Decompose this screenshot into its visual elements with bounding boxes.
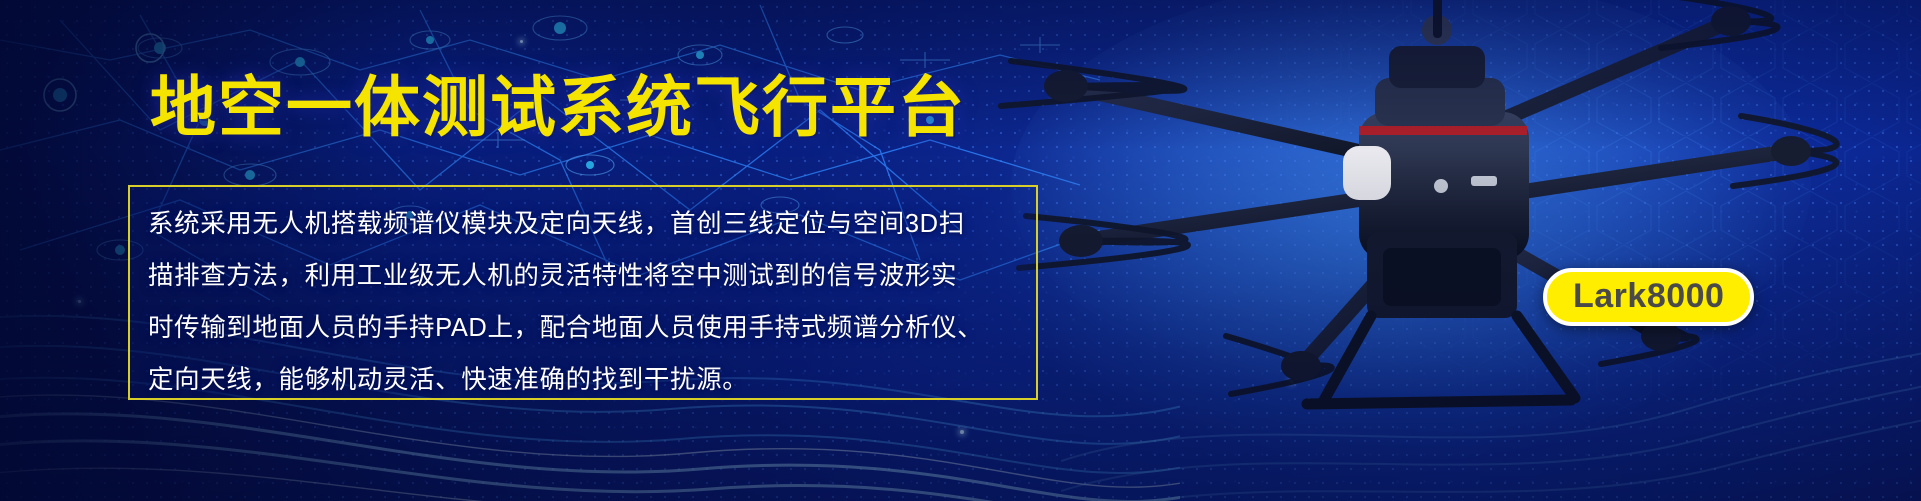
banner-content: 地空一体测试系统飞行平台 系统采用无人机搭载频谱仪模块及定向天线，首创三线定位与… xyxy=(0,0,1100,501)
product-banner: 地空一体测试系统飞行平台 系统采用无人机搭载频谱仪模块及定向天线，首创三线定位与… xyxy=(0,0,1921,501)
page-title: 地空一体测试系统飞行平台 xyxy=(150,74,966,140)
description-box: 系统采用无人机搭载频谱仪模块及定向天线，首创三线定位与空间3D扫 描排查方法，利… xyxy=(128,185,1038,400)
description-line: 时传输到地面人员的手持PAD上，配合地面人员使用手持式频谱分析仪、 xyxy=(148,305,1018,351)
description-line: 系统采用无人机搭载频谱仪模块及定向天线，首创三线定位与空间3D扫 xyxy=(148,201,1018,247)
description-line: 定向天线，能够机动灵活、快速准确的找到干扰源。 xyxy=(148,357,1018,403)
description-line: 描排查方法，利用工业级无人机的灵活特性将空中测试到的信号波形实 xyxy=(148,253,1018,299)
product-model-badge: Lark8000 xyxy=(1543,268,1754,326)
